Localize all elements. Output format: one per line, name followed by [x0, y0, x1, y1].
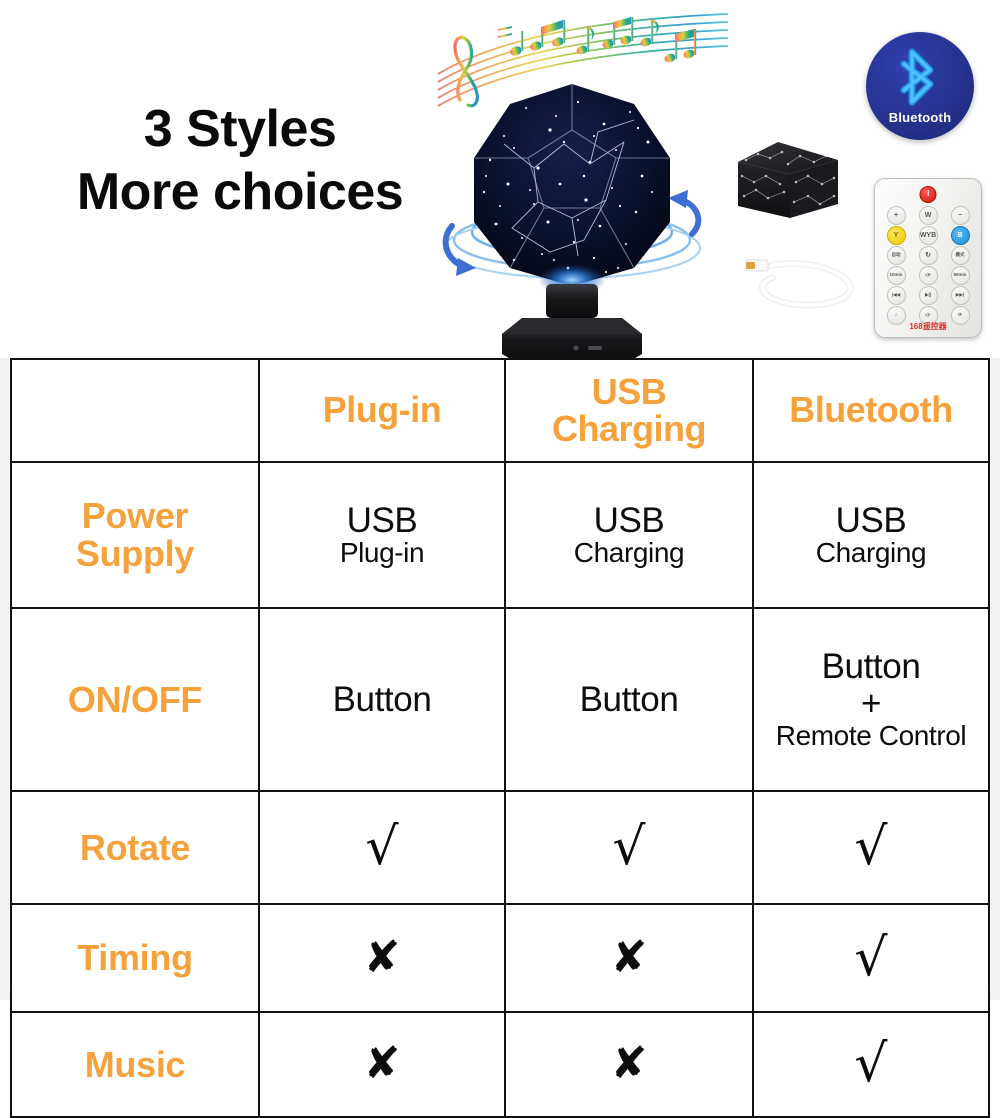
- cell-value: Button: [510, 681, 748, 718]
- remote-button: +: [887, 206, 906, 225]
- power-icon: [920, 186, 937, 203]
- remote-button: ▶▶|: [951, 286, 970, 305]
- row-label: Power Supply: [16, 497, 254, 572]
- remote-button: Y: [887, 226, 906, 245]
- remote-button: ↻: [919, 246, 938, 265]
- bluetooth-badge: Bluetooth: [866, 32, 974, 140]
- table-cell: USB Charging: [753, 462, 989, 608]
- cross-icon: ✘: [364, 1042, 401, 1086]
- row-label: Music: [16, 1046, 254, 1083]
- row-label-cell: Rotate: [11, 791, 259, 904]
- remote-button: ▶||: [919, 286, 938, 305]
- table-cell: ✘: [259, 904, 505, 1012]
- usb-cable-icon: [742, 248, 862, 318]
- table-cell: √: [259, 791, 505, 904]
- remote-button: 自动: [887, 246, 906, 265]
- spec-comparison-table: Plug-in USB Charging Bluetooth Power Sup…: [10, 358, 990, 1118]
- cross-icon: ✘: [611, 936, 648, 980]
- remote-button: WYB: [919, 226, 938, 245]
- row-label: Timing: [16, 939, 254, 976]
- table-row: Rotate √ √ √: [11, 791, 989, 904]
- remote-button: 模式: [951, 246, 970, 265]
- column-header-usb-charging: USB Charging: [505, 359, 753, 462]
- page-root: 3 Styles More choices: [0, 0, 1000, 1000]
- table-cell: Button: [505, 608, 753, 791]
- column-header-label: Bluetooth: [758, 392, 984, 429]
- remote-button: 60min: [951, 266, 970, 285]
- table-cell: √: [753, 1012, 989, 1117]
- table-row: Music ✘ ✘ √: [11, 1012, 989, 1117]
- table-cell: √: [753, 791, 989, 904]
- table-cell: USB Charging: [505, 462, 753, 608]
- cross-icon: ✘: [364, 936, 401, 980]
- table-cell: USB Plug-in: [259, 462, 505, 608]
- table-row: ON/OFF Button Button Button + Remote Con…: [11, 608, 989, 791]
- table-cell: ✘: [505, 904, 753, 1012]
- page-title: 3 Styles More choices: [30, 98, 450, 225]
- hero-banner: 3 Styles More choices: [0, 0, 1000, 358]
- check-icon: √: [365, 821, 398, 873]
- check-icon: √: [854, 932, 887, 984]
- remote-button-grid: + W − Y WYB B 自动 ↻ 模式 10min ◁+ 60min |◀◀…: [880, 205, 976, 325]
- row-label-cell: ON/OFF: [11, 608, 259, 791]
- remote-button: −: [951, 206, 970, 225]
- cell-value: Button + Remote Control: [758, 611, 984, 788]
- remote-button: W: [919, 206, 938, 225]
- column-header-label: Plug-in: [264, 392, 500, 429]
- remote-button: |◀◀: [887, 286, 906, 305]
- star-projector-lamp-icon: [438, 72, 706, 358]
- cell-value: USB Charging: [758, 465, 984, 605]
- table-cell: Button: [259, 608, 505, 791]
- cell-value: USB Plug-in: [264, 465, 500, 605]
- cross-icon: ✘: [611, 1042, 648, 1086]
- table-cell: ✘: [259, 1012, 505, 1117]
- headline-line-2: More choices: [30, 161, 450, 224]
- check-icon: √: [854, 821, 887, 873]
- cell-value: USB Charging: [510, 465, 748, 605]
- table-row: Timing ✘ ✘ √: [11, 904, 989, 1012]
- remote-button: 10min: [887, 266, 906, 285]
- bluetooth-badge-label: Bluetooth: [866, 110, 974, 125]
- bluetooth-icon: [894, 46, 946, 108]
- remote-control: + W − Y WYB B 自动 ↻ 模式 10min ◁+ 60min |◀◀…: [874, 178, 982, 338]
- check-icon: √: [612, 821, 645, 873]
- table-cell: ✘: [505, 1012, 753, 1117]
- gift-box-icon: [728, 126, 846, 226]
- check-icon: √: [854, 1038, 887, 1090]
- remote-button: B: [951, 226, 970, 245]
- row-label: ON/OFF: [16, 681, 254, 718]
- table-row: Power Supply USB Plug-in USB Charging: [11, 462, 989, 608]
- cell-value: Button: [264, 681, 500, 718]
- table-cell: √: [505, 791, 753, 904]
- table-header-row: Plug-in USB Charging Bluetooth: [11, 359, 989, 462]
- row-label-cell: Power Supply: [11, 462, 259, 608]
- column-header-label: USB Charging: [510, 374, 748, 447]
- row-label-cell: Music: [11, 1012, 259, 1117]
- table-corner-cell: [11, 359, 259, 462]
- column-header-bluetooth: Bluetooth: [753, 359, 989, 462]
- remote-button: ◁+: [919, 266, 938, 285]
- column-header-plug-in: Plug-in: [259, 359, 505, 462]
- row-label-cell: Timing: [11, 904, 259, 1012]
- table-cell: Button + Remote Control: [753, 608, 989, 791]
- headline-line-1: 3 Styles: [30, 98, 450, 161]
- table-cell: √: [753, 904, 989, 1012]
- row-label: Rotate: [16, 829, 254, 866]
- remote-model-label: 168遥控器: [875, 321, 981, 332]
